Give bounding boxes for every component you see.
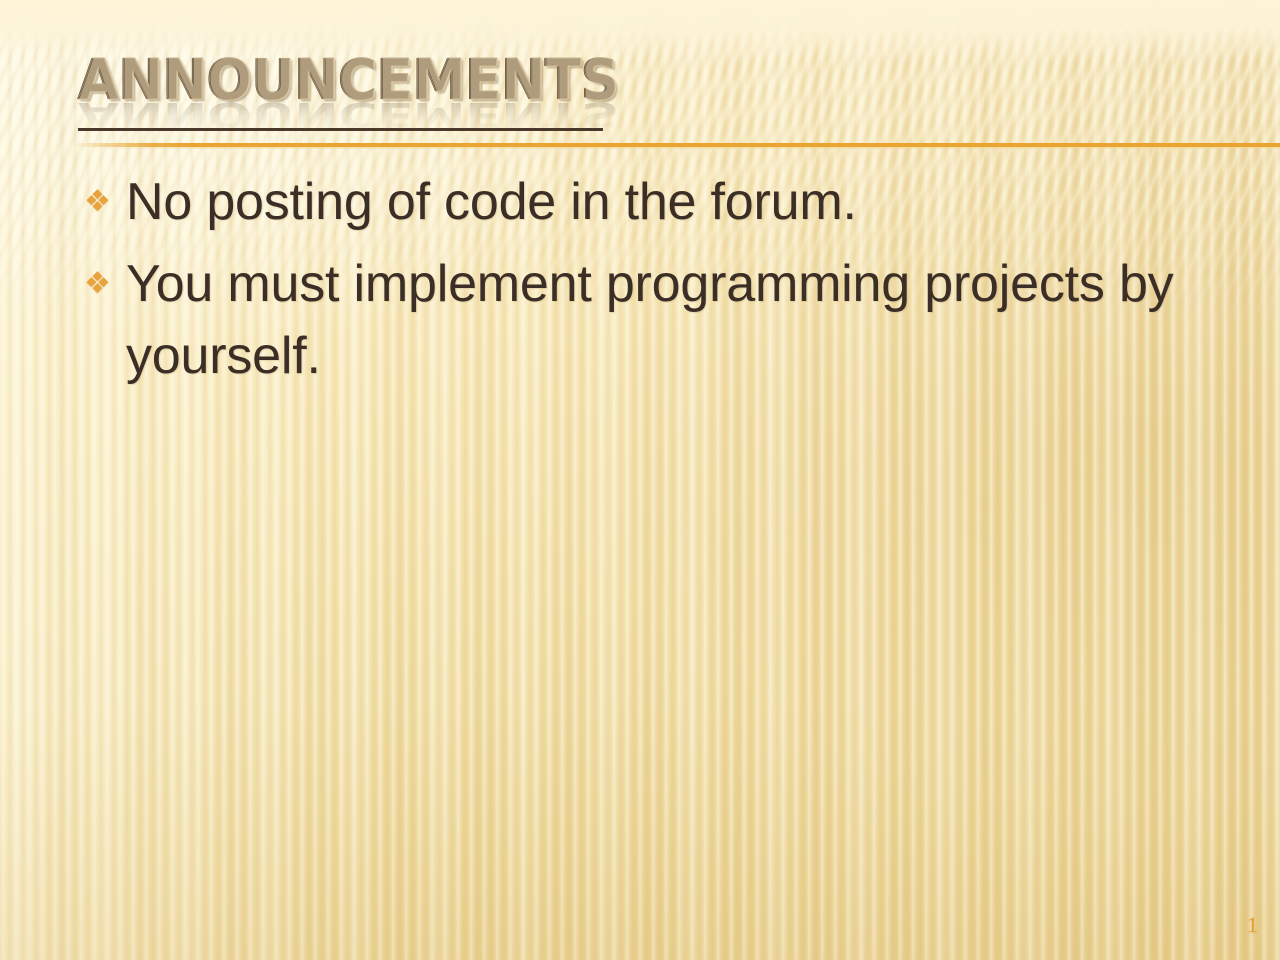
- background-bottom-fade: [0, 700, 1280, 960]
- list-item: ❖ No posting of code in the forum.: [78, 166, 1193, 238]
- bullet-text: No posting of code in the forum.: [126, 166, 1193, 238]
- title-underline-rule: [78, 128, 603, 131]
- slide-number: 1: [1247, 912, 1258, 938]
- list-item: ❖ You must implement programming project…: [78, 248, 1193, 392]
- presentation-slide: ANNOUNCEMENTS ANNOUNCEMENTS ❖ No posting…: [0, 0, 1280, 960]
- page-title: ANNOUNCEMENTS: [78, 52, 619, 110]
- diamond-bullet-icon: ❖: [78, 248, 126, 320]
- title-divider-highlight: [0, 147, 1280, 149]
- bullet-text: You must implement programming projects …: [126, 248, 1193, 392]
- slide-body-content: ❖ No posting of code in the forum. ❖ You…: [78, 166, 1193, 402]
- slide-title-block: ANNOUNCEMENTS ANNOUNCEMENTS: [78, 52, 1228, 152]
- diamond-bullet-icon: ❖: [78, 166, 126, 238]
